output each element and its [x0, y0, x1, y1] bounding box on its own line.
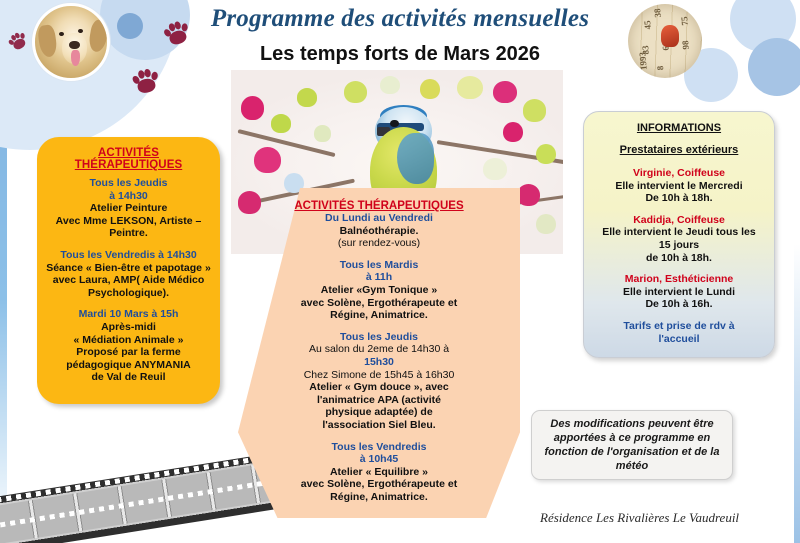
- activity-block: Tous les Vendredis à 14h30 Séance « Bien…: [45, 249, 212, 299]
- left-activities-card: ACTIVITÉS THÉRAPEUTIQUES Tous les Jeudis…: [37, 137, 220, 404]
- info-footer-line: l'accueil: [590, 333, 768, 346]
- activity-line: Atelier «Gym Tonique »: [260, 284, 498, 297]
- note-line: fonction de l'organisation et de la: [545, 446, 720, 458]
- activity-line: Tous les Vendredis à 14h30: [45, 249, 212, 262]
- activity-line: Tous les Vendredis: [260, 441, 498, 454]
- modifications-note-card: Des modifications peuvent être apportées…: [531, 410, 733, 480]
- activity-line: Atelier « Equilibre »: [260, 466, 498, 479]
- activity-line: Atelier « Gym douce », avec: [260, 381, 498, 394]
- activity-line: Psychologique).: [45, 287, 212, 300]
- activity-block: Tous les Mardis à 11h Atelier «Gym Toniq…: [260, 259, 498, 322]
- provider-name: Marion, Esthéticienne: [590, 273, 768, 286]
- activity-line: l'animatrice APA (activité: [260, 394, 498, 407]
- provider-name: Virginie, Coiffeuse: [590, 167, 768, 180]
- provider-block: Virginie, Coiffeuse Elle intervient le M…: [590, 167, 768, 205]
- activity-line: Tous les Jeudis: [45, 177, 212, 190]
- activity-line: à 11h: [260, 271, 498, 284]
- activity-line: Peintre.: [45, 227, 212, 240]
- bird-wing-shape: [397, 133, 434, 185]
- provider-line: De 10h à 16h.: [590, 298, 768, 311]
- activity-line: l'association Siel Bleu.: [260, 419, 498, 432]
- activity-line: Avec Mme LEKSON, Artiste –: [45, 215, 212, 228]
- activity-block: Tous les Jeudis à 14h30 Atelier Peinture…: [45, 177, 212, 240]
- activity-line: Régine, Animatrice.: [260, 491, 498, 504]
- note-line: Des modifications peuvent être: [550, 418, 713, 430]
- activity-line: de Val de Reuil: [45, 371, 212, 384]
- activity-line: pédagogique ANYMANIA: [45, 359, 212, 372]
- left-card-body: Tous les Jeudis à 14h30 Atelier Peinture…: [45, 177, 212, 384]
- informations-card: INFORMATIONS Prestataires extérieurs Vir…: [583, 111, 775, 358]
- provider-line: Elle intervient le Mercredi: [590, 180, 768, 193]
- activity-line: Proposé par la ferme: [45, 346, 212, 359]
- page-title: Programme des activités mensuelles: [0, 5, 800, 33]
- provider-block: Marion, Esthéticienne Elle intervient le…: [590, 273, 768, 311]
- activity-line: Tous les Jeudis: [260, 331, 498, 344]
- board-number: 8: [655, 66, 665, 71]
- poster-page: 38 45 75 60 83 98 1993 8 Programme des a…: [0, 0, 800, 543]
- activity-line: Séance « Bien-être et papotage »: [45, 262, 212, 275]
- center-card-body: Du Lundi au Vendredi Balnéothérapie. (su…: [260, 212, 498, 503]
- activity-block: Tous les Jeudis Au salon du 2eme de 14h3…: [260, 331, 498, 432]
- activity-line: avec Laura, AMP( Aide Médico: [45, 274, 212, 287]
- left-card-heading: ACTIVITÉS THÉRAPEUTIQUES: [45, 147, 212, 171]
- provider-line: De 10h à 18h.: [590, 192, 768, 205]
- info-card-heading: INFORMATIONS: [590, 122, 768, 134]
- activity-block: Mardi 10 Mars à 15h Après-midi « Médiati…: [45, 308, 212, 384]
- note-line: météo: [616, 460, 648, 472]
- paw-print-icon: [130, 65, 162, 97]
- activity-line: Au salon du 2eme de 14h30 à: [260, 343, 498, 356]
- provider-block: Kadidja, Coiffeuse Elle intervient le Je…: [590, 214, 768, 264]
- activity-line: Chez Simone de 15h45 à 16h30: [260, 369, 498, 382]
- activity-line: Atelier Peinture: [45, 202, 212, 215]
- provider-line: Elle intervient le Jeudi tous les: [590, 226, 768, 239]
- activity-line: à 10h45: [260, 453, 498, 466]
- activity-block: Tous les Vendredis à 10h45 Atelier « Equ…: [260, 441, 498, 504]
- provider-line: 15 jours: [590, 239, 768, 252]
- activity-line: avec Solène, Ergothérapeute et: [260, 478, 498, 491]
- activity-line: « Médiation Animale »: [45, 334, 212, 347]
- activity-line: (sur rendez-vous): [260, 237, 498, 250]
- info-card-footer: Tarifs et prise de rdv à l'accueil: [590, 320, 768, 345]
- provider-name: Kadidja, Coiffeuse: [590, 214, 768, 227]
- note-text: Des modifications peuvent être apportées…: [545, 417, 720, 473]
- note-line: apportées à ce programme en: [554, 432, 711, 444]
- activity-line: avec Solène, Ergothérapeute et: [260, 297, 498, 310]
- activity-line: Balnéothérapie.: [260, 225, 498, 238]
- activity-line: Mardi 10 Mars à 15h: [45, 308, 212, 321]
- page-subtitle: Les temps forts de Mars 2026: [0, 43, 800, 66]
- provider-line: Elle intervient le Lundi: [590, 286, 768, 299]
- provider-line: de 10h à 18h.: [590, 252, 768, 265]
- activity-line: Après-midi: [45, 321, 212, 334]
- info-card-subheading: Prestataires extérieurs: [590, 144, 768, 156]
- info-footer-line: Tarifs et prise de rdv à: [590, 320, 768, 333]
- activity-line: physique adaptée) de: [260, 406, 498, 419]
- activity-line: Tous les Mardis: [260, 259, 498, 272]
- activity-line: 15h30: [260, 356, 498, 369]
- activity-line: à 14h30: [45, 190, 212, 203]
- residence-footer: Résidence Les Rivalières Le Vaudreuil: [540, 510, 739, 526]
- activity-line: Du Lundi au Vendredi: [260, 212, 498, 225]
- activity-block: Du Lundi au Vendredi Balnéothérapie. (su…: [260, 212, 498, 250]
- activity-line: Régine, Animatrice.: [260, 309, 498, 322]
